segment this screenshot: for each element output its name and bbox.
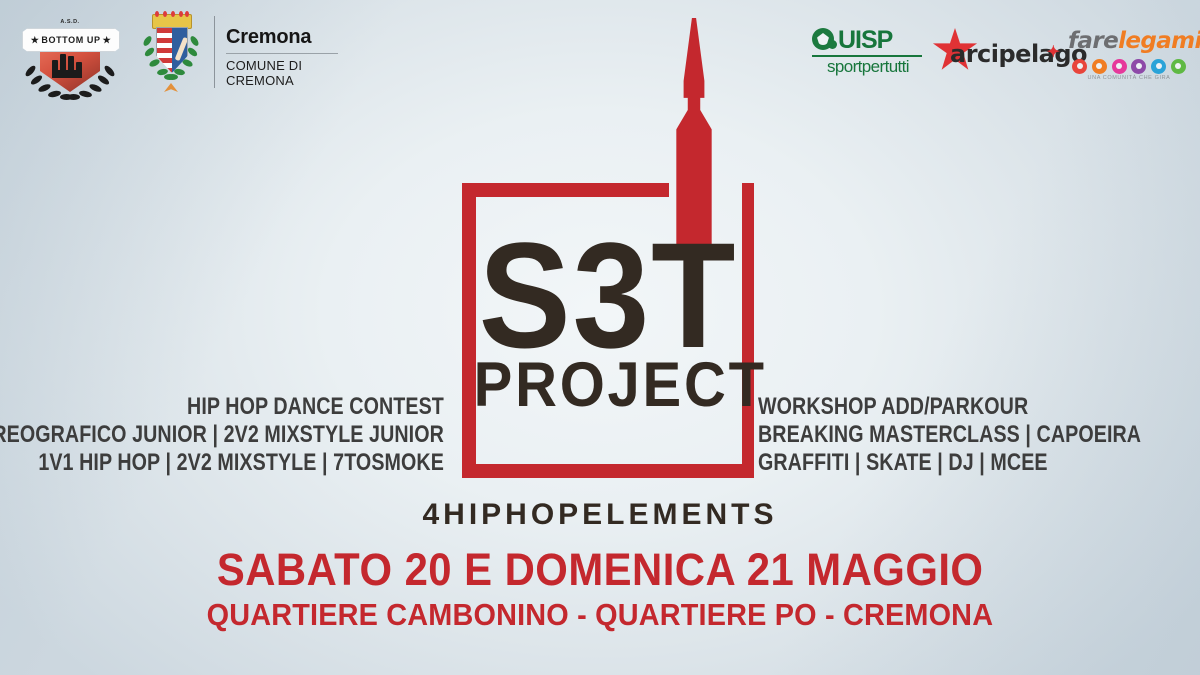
left-line-2: COREOGRAFICO JUNIOR | 2V2 MIXSTYLE JUNIO… <box>0 421 444 449</box>
event-date: SABATO 20 E DOMENICA 21 MAGGIO <box>0 547 1200 593</box>
bottom-up-label: BOTTOM UP <box>41 35 100 45</box>
star-left-icon: ★ <box>31 35 40 46</box>
left-line-1: HIP HOP DANCE CONTEST <box>0 393 444 421</box>
farelegami-title-fare: fare <box>1068 28 1118 54</box>
bottom-up-asd-label: A.S.D. <box>18 19 122 25</box>
star-right-icon: ★ <box>103 35 112 46</box>
farelegami-logo: farelegami UNA COMUNITÀ CHE GIRA <box>1068 28 1190 88</box>
event-location-text: QUARTIERE CAMBONINO - QUARTIERE PO - CRE… <box>207 597 994 633</box>
cremona-subtitle: COMUNE DI CREMONA <box>226 58 345 88</box>
s3t-project-logo: S3T PROJECT <box>462 220 754 400</box>
uisp-ball-icon <box>812 28 834 50</box>
arcipelago-logo: arcipelago ✦ <box>932 26 1058 84</box>
right-discipline-column: WORKSHOP ADD/PARKOUR BREAKING MASTERCLAS… <box>758 393 1200 476</box>
left-discipline-column: HIP HOP DANCE CONTEST COREOGRAFICO JUNIO… <box>0 393 444 476</box>
fist-icon <box>52 48 88 78</box>
s3t-project-word: PROJECT <box>474 354 743 417</box>
sponsor-logo-bar: ★ BOTTOM UP ★ A.S.D. <box>0 0 1200 108</box>
logo-divider <box>214 16 215 88</box>
event-date-text: SABATO 20 E DOMENICA 21 MAGGIO <box>217 547 984 593</box>
right-line-2: BREAKING MASTERCLASS | CAPOEIRA <box>758 421 1141 449</box>
uisp-title: UISP <box>838 26 892 55</box>
ribbon-icon <box>164 83 178 92</box>
farelegami-chain-icon <box>1072 58 1186 74</box>
uisp-logo: UISP sportpertutti <box>812 26 924 84</box>
event-poster: ★ BOTTOM UP ★ A.S.D. <box>0 0 1200 675</box>
uisp-tagline: sportpertutti <box>812 57 924 77</box>
farelegami-title-legami: legami <box>1118 28 1200 54</box>
event-location: QUARTIERE CAMBONINO - QUARTIERE PO - CRE… <box>0 597 1200 633</box>
cremona-rule <box>226 53 338 54</box>
bottom-up-banner: ★ BOTTOM UP ★ <box>22 28 120 52</box>
s3t-mark: S3T <box>474 220 743 370</box>
cremona-coat-of-arms-icon <box>140 14 202 94</box>
crown-icon <box>152 14 192 29</box>
cremona-title: Cremona <box>226 26 311 49</box>
comune-di-cremona-logo: Cremona COMUNE DI CREMONA <box>140 10 345 98</box>
arcipelago-title: arcipelago <box>950 40 1087 68</box>
farelegami-tagline: UNA COMUNITÀ CHE GIRA <box>1068 75 1190 81</box>
right-line-1: WORKSHOP ADD/PARKOUR <box>758 393 1141 421</box>
arcipelago-spark-icon: ✦ <box>1047 42 1060 62</box>
bottom-up-logo: ★ BOTTOM UP ★ A.S.D. <box>18 8 122 100</box>
right-line-3: GRAFFITI | SKATE | DJ | MCEE <box>758 449 1141 477</box>
farelegami-title: farelegami <box>1068 28 1200 54</box>
left-line-3: 1V1 HIP HOP | 2V2 MIXSTYLE | 7TOSMOKE <box>0 449 444 477</box>
four-elements-tagline: 4HIPHOPELEMENTS <box>0 498 1200 532</box>
